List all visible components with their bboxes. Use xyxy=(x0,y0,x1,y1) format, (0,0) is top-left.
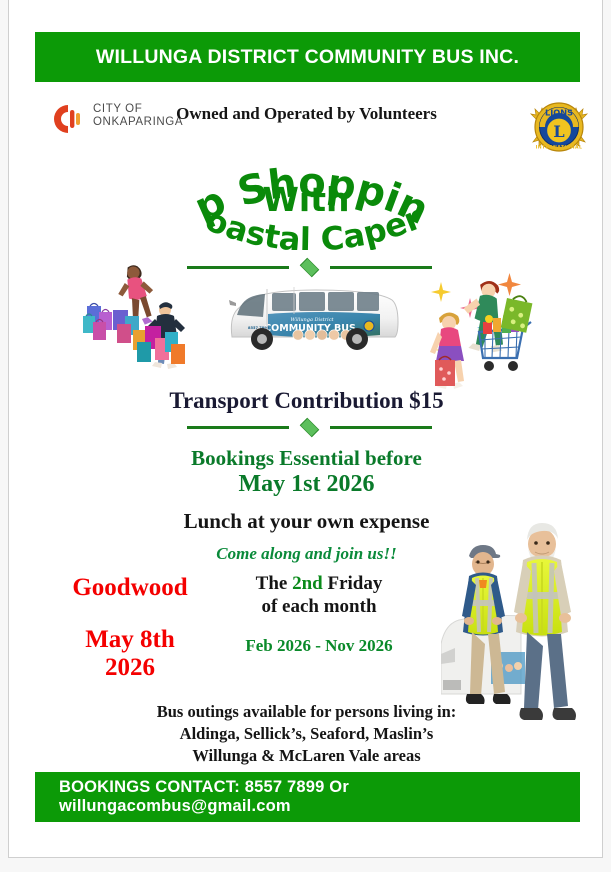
divider-line-left xyxy=(187,266,289,269)
divider-line-left xyxy=(187,426,289,429)
divider-top xyxy=(187,258,432,276)
footer-banner: BOOKINGS CONTACT: 8557 7899 Or willungac… xyxy=(35,772,580,822)
flyer-viewport: WILLUNGA DISTRICT COMMUNITY BUS INC. CIT… xyxy=(0,0,611,872)
community-bus-photo: Willunga District COMMUNITY BUS 8557 789… xyxy=(224,277,404,359)
bookings-contact: BOOKINGS CONTACT: 8557 7899 Or willungac… xyxy=(59,778,580,816)
divider-diamond-icon xyxy=(300,258,319,277)
bookings-deadline-date: May 1st 2026 xyxy=(9,471,603,498)
wordart-line2: With xyxy=(263,180,350,219)
frequency-prefix: The xyxy=(256,573,292,594)
organisation-title: WILLUNGA DISTRICT COMMUNITY BUS INC. xyxy=(96,46,519,69)
trip-date: May 8th 2026 xyxy=(45,626,215,682)
frequency-highlight: 2nd xyxy=(292,573,323,594)
divider-line-right xyxy=(330,266,432,269)
destination-name: Goodwood xyxy=(45,574,215,602)
service-areas: Bus outings available for persons living… xyxy=(9,701,603,767)
shoppers-right-illustration xyxy=(421,268,553,390)
trip-date-line2: 2026 xyxy=(45,654,215,682)
frequency-suffix: Friday xyxy=(323,573,383,594)
wordart-title: Op Shopping With Coastal Capers xyxy=(9,132,603,250)
trip-frequency: The 2nd Friday of each month xyxy=(204,572,434,618)
season-range: Feb 2026 - Nov 2026 xyxy=(204,636,434,656)
divider-bottom xyxy=(187,418,432,436)
shoppers-left-illustration xyxy=(81,262,201,380)
flyer-page: WILLUNGA DISTRICT COMMUNITY BUS INC. CIT… xyxy=(8,0,603,858)
frequency-line1: The 2nd Friday xyxy=(204,572,434,595)
trip-date-line1: May 8th xyxy=(45,626,215,654)
divider-line-right xyxy=(330,426,432,429)
bookings-essential-text: Bookings Essential before xyxy=(9,446,603,471)
areas-line3: Willunga & McLaren Vale areas xyxy=(9,745,603,767)
areas-line1: Bus outings available for persons living… xyxy=(9,701,603,723)
areas-line2: Aldinga, Sellick’s, Seaford, Maslin’s xyxy=(9,723,603,745)
tagline: Owned and Operated by Volunteers xyxy=(9,104,603,124)
frequency-line2: of each month xyxy=(204,595,434,618)
transport-contribution: Transport Contribution $15 xyxy=(9,388,603,414)
divider-diamond-icon xyxy=(300,418,319,437)
header-banner: WILLUNGA DISTRICT COMMUNITY BUS INC. xyxy=(35,32,580,82)
